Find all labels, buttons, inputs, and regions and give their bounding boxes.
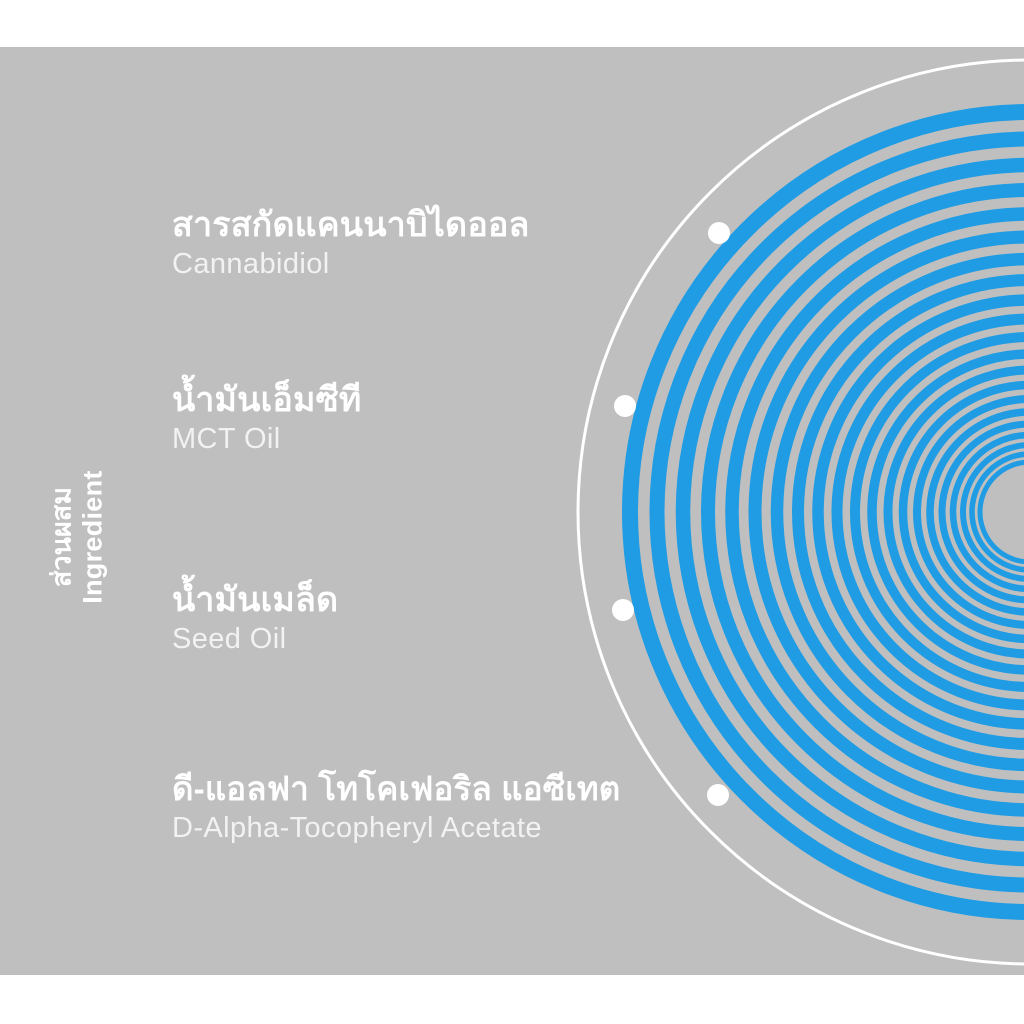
poster-root: ส่วนผสม Ingredient สารสกัดแคนนาบิไดออล C… — [0, 0, 1024, 1024]
ingredient-4-thai: ดี-แอลฟา โทโคเฟอริล แอซีเทต — [172, 770, 620, 809]
ingredient-2-english: MCT Oil — [172, 422, 362, 457]
connector-dot-1 — [708, 222, 730, 244]
gray-panel: ส่วนผสม Ingredient สารสกัดแคนนาบิไดออล C… — [0, 47, 1024, 975]
ingredient-1-thai: สารสกัดแคนนาบิไดออล — [172, 205, 530, 245]
ingredient-item-1: สารสกัดแคนนาบิไดออล Cannabidiol — [172, 205, 530, 282]
ingredient-3-thai: น้ำมันเมล็ด — [172, 580, 338, 620]
ingredient-item-3: น้ำมันเมล็ด Seed Oil — [172, 580, 338, 657]
ingredient-item-2: น้ำมันเอ็มซีที MCT Oil — [172, 380, 362, 457]
ingredient-4-english: D-Alpha-Tocopheryl Acetate — [172, 811, 620, 846]
connector-dot-4 — [707, 784, 729, 806]
ingredient-2-thai: น้ำมันเอ็มซีที — [172, 380, 362, 420]
ingredient-1-english: Cannabidiol — [172, 247, 530, 282]
ingredient-3-english: Seed Oil — [172, 622, 338, 657]
ingredient-label-list: สารสกัดแคนนาบิไดออล Cannabidiol น้ำมันเอ… — [0, 47, 700, 975]
ingredient-item-4: ดี-แอลฟา โทโคเฟอริล แอซีเทต D-Alpha-Toco… — [172, 770, 620, 846]
